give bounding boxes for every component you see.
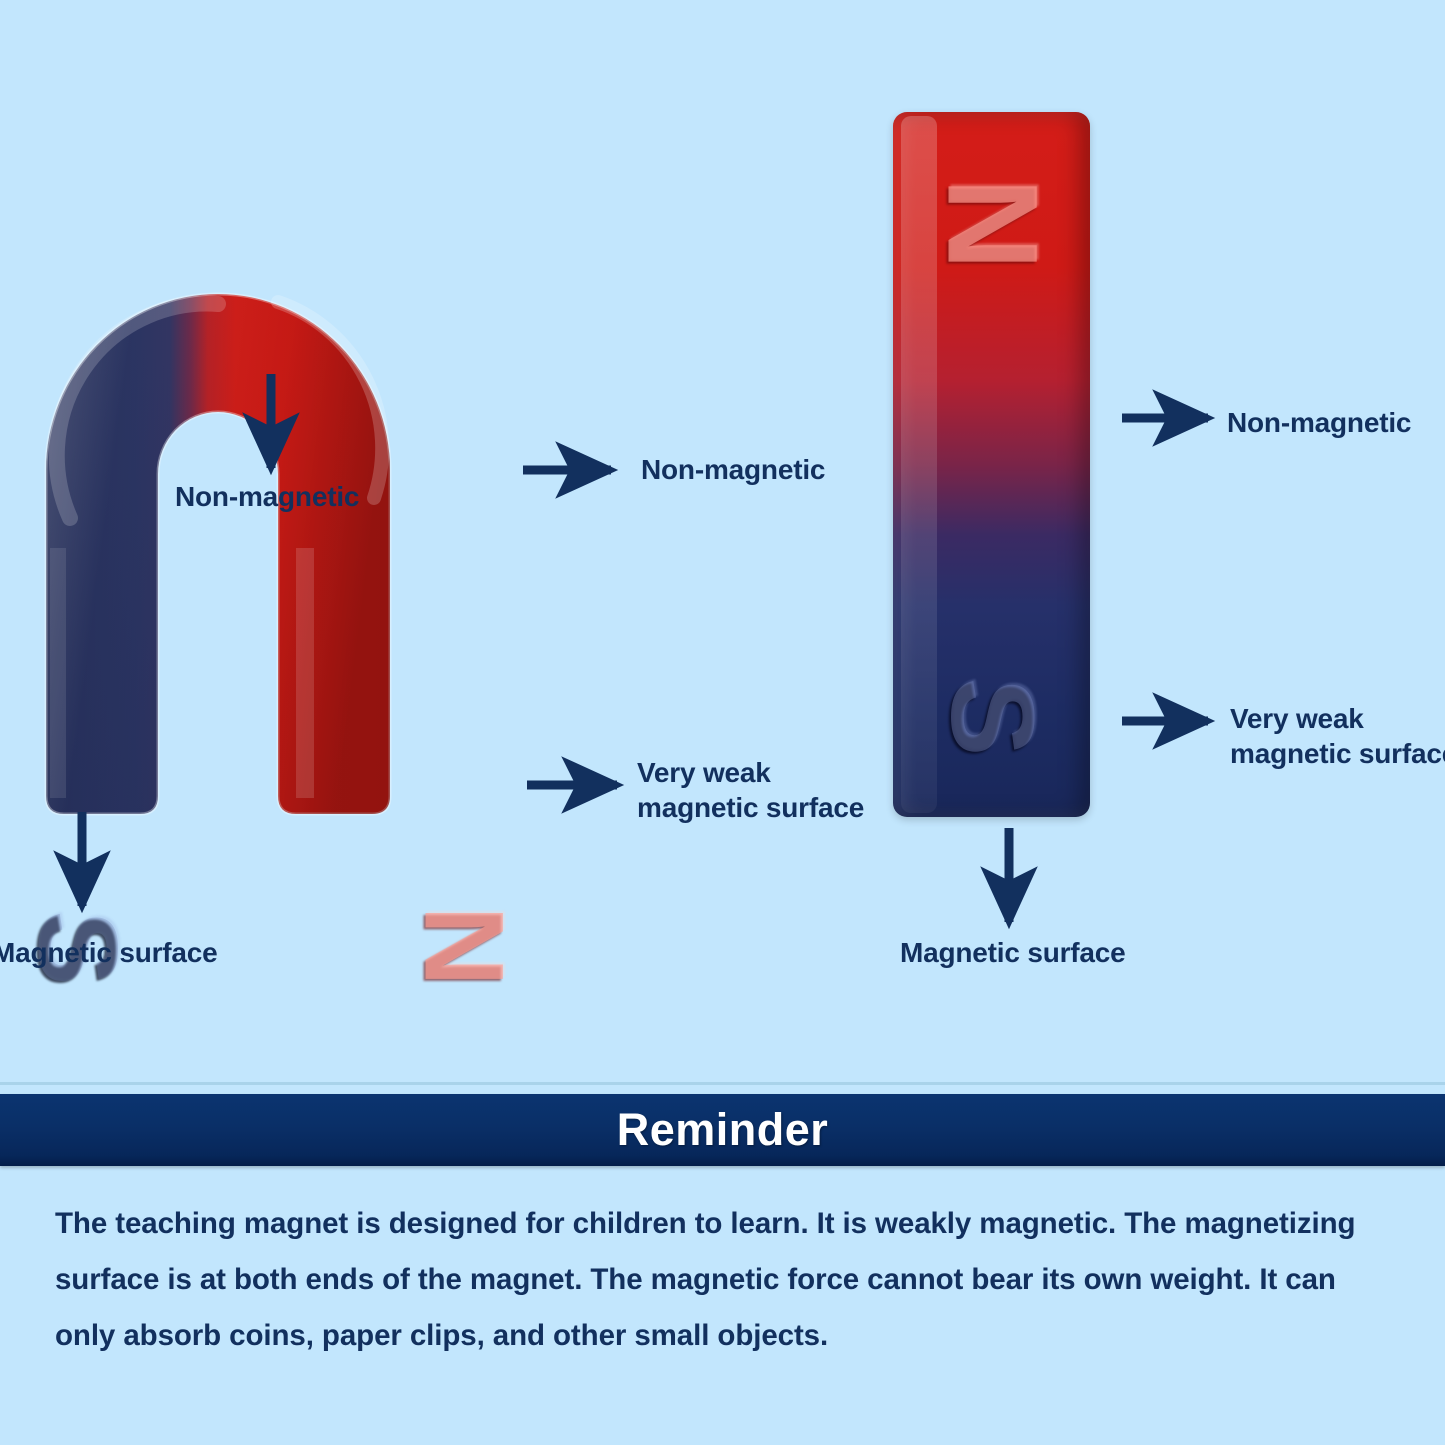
product-info-graphic: S N N S — [0, 0, 1445, 1445]
label-horseshoe-very-weak-line2: magnetic surface — [637, 790, 864, 827]
bar-south-pole-letter: S — [924, 678, 1060, 757]
horseshoe-magnet: S N — [0, 228, 560, 818]
label-bar-nonmagnetic: Non-magnetic — [1227, 405, 1411, 442]
section-divider — [0, 1082, 1445, 1085]
label-horseshoe-very-weak-line1: Very weak — [637, 755, 771, 792]
label-bar-very-weak-line2: magnetic surface — [1230, 736, 1445, 773]
reminder-header-bar: Reminder — [0, 1094, 1445, 1166]
horseshoe-north-pole-letter: N — [400, 906, 529, 987]
label-horseshoe-inner-nonmagnetic: Non-magnetic — [175, 479, 359, 516]
magnet-diagram: S N N S — [0, 0, 1445, 1082]
reminder-body-text: The teaching magnet is designed for chil… — [55, 1196, 1400, 1364]
label-bar-magnetic-surface: Magnetic surface — [900, 935, 1126, 972]
label-bar-very-weak-line1: Very weak — [1230, 701, 1364, 738]
bar-north-pole-letter: N — [918, 178, 1065, 270]
label-horseshoe-magnetic-surface: Magnetic surface — [0, 935, 218, 972]
bar-magnet: N S — [893, 112, 1090, 817]
label-horseshoe-outer-nonmagnetic: Non-magnetic — [641, 452, 825, 489]
horseshoe-magnet-shape — [0, 228, 560, 818]
reminder-title: Reminder — [617, 1104, 829, 1156]
